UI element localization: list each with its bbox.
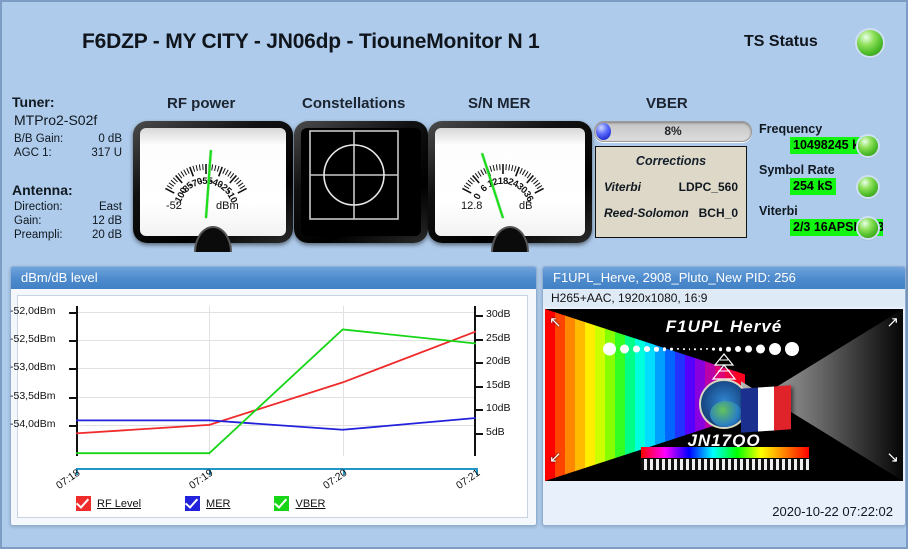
burst-dot [663,347,667,351]
ts-status-led [857,30,883,56]
level-chart-panel: dBm/dB level -52,0dBm-52,5dBm-53,0dBm-53… [10,266,537,526]
chart-x-tick-label: 07:19 [187,467,215,492]
corrections-row-viterbi: Viterbi LDPC_560 [596,180,746,194]
snr-mer-scale: 061218243036 [435,128,571,222]
burst-dot [712,348,715,351]
rf-power-title: RF power [167,95,235,112]
antenna-row-direction: Direction: East [14,200,130,214]
chart-right-tick [476,386,483,388]
legend-checkbox[interactable] [274,496,289,511]
legend-label: MER [206,498,230,510]
burst-dot [620,345,629,354]
chart-series-vber [76,329,476,453]
burst-dot [654,347,659,352]
chart-left-tick-label: -53,0dBm [10,361,56,373]
video-timestamp: 2020-10-22 07:22:02 [543,504,893,519]
burst-dot [706,348,708,350]
antenna-row-gain: Gain: 12 dB [14,214,130,228]
chart-right-tick [476,339,483,341]
level-chart-title: dBm/dB level [11,267,536,289]
antenna-direction-value: East [73,200,130,214]
legend-label: RF Level [97,498,141,510]
legend-label: VBER [295,498,325,510]
arrow-up-left-icon: ↖ [549,315,562,330]
burst-dot [689,348,691,350]
antenna-preampli-key: Preampli: [14,228,73,242]
viterbi-lock-led [858,218,878,238]
vber-percent-label: 8% [595,122,751,141]
snr-mer-gauge: 061218243036 12.8 dB [428,121,592,243]
chart-series-mer [76,418,476,430]
chart-right-tick-label: 10dB [486,402,511,414]
tuner-bbgain-value: 0 dB [73,132,130,146]
chart-right-tick [476,362,483,364]
viterbi-label: Viterbi [759,204,907,218]
chart-baseline [76,468,476,470]
vber-progress-bar[interactable]: 8% [594,121,752,142]
corrections-reedsolomon-label: Reed-Solomon [604,206,689,220]
tuner-row-agc: AGC 1: 317 U [14,146,130,160]
burst-dot [670,348,673,351]
chart-series-layer [76,306,476,456]
antenna-direction-key: Direction: [14,200,73,214]
chart-left-tick [69,425,76,427]
symbol-rate-label: Symbol Rate [759,163,907,177]
snr-mer-reading: 12.8 [461,200,482,212]
arrow-down-right-icon: ↘ [886,450,899,465]
ts-status-label: TS Status [744,33,818,51]
legend-item-vber[interactable]: VBER [274,496,325,511]
grayscale-bar-pattern [641,459,809,470]
vber-slider-thumb[interactable] [596,123,611,140]
check-icon [274,495,287,509]
check-icon [185,495,198,509]
snr-mer-unit: dB [519,200,532,212]
constellation-canvas [301,128,421,236]
chart-right-tick [476,315,483,317]
color-bar-pattern [641,447,809,458]
video-preview-panel: F1UPL_Herve, 2908_Pluto_New PID: 256 H26… [542,266,906,526]
tuner-info-block: Tuner: MTPro2-S02f B/B Gain: 0 dB AGC 1:… [12,94,130,242]
antenna-heading: Antenna: [12,182,130,198]
rf-power-gauge: -100-85-70-55-40-25-10 -52 dBm [133,121,293,243]
burst-dot [677,348,679,350]
antenna-preampli-value: 20 dB [73,228,130,242]
french-flag-icon [741,385,791,432]
legend-checkbox[interactable] [185,496,200,511]
corrections-box: Corrections Viterbi LDPC_560 Reed-Solomo… [595,146,747,238]
snr-mer-title: S/N MER [468,95,531,112]
chart-left-tick [69,340,76,342]
burst-dot [726,347,731,352]
corrections-row-reedsolomon: Reed-Solomon BCH_0 [596,206,746,220]
video-header: F1UPL_Herve, 2908_Pluto_New PID: 256 [543,267,905,289]
snr-mer-gauge-face: 061218243036 12.8 dB [435,128,585,236]
chart-right-tick [476,433,483,435]
video-subheader: H265+AAC, 1920x1080, 16:9 [543,289,905,307]
chart-right-tick-label: 25dB [486,332,511,344]
symbol-rate-lock-led [858,177,878,197]
legend-item-rf-level[interactable]: RF Level [76,496,141,511]
symbol-rate-row: 254 kS [757,178,907,197]
burst-dot [644,346,650,352]
viterbi-row: 2/3 16APSK_L3 [757,219,907,238]
chart-left-tick [69,368,76,370]
chart-left-tick [69,397,76,399]
tuner-model: MTPro2-S02f [14,112,130,128]
burst-dot [785,342,799,356]
burst-dot [694,348,696,350]
symbol-rate-value: 254 kS [790,178,836,195]
tiounemonitor-window: F6DZP - MY CITY - JN06dp - TiouneMonitor… [0,0,908,549]
constellation-display [294,121,428,243]
tuner-row-bbgain: B/B Gain: 0 dB [14,132,130,146]
chart-right-tick-label: 15dB [486,379,511,391]
rf-power-gauge-face: -100-85-70-55-40-25-10 -52 dBm [140,128,286,236]
chart-left-tick-label: -53,5dBm [10,390,56,402]
frequency-label: Frequency [759,122,907,136]
chart-x-tick-label: 07:21 [454,467,482,492]
check-icon [76,495,89,509]
corrections-reedsolomon-value: BCH_0 [699,206,738,220]
constellation-grid-icon [301,128,407,222]
chart-left-tick-label: -52,0dBm [10,305,56,317]
chart-right-tick-label: 5dB [486,426,505,438]
signal-parameters-panel: Frequency 10498245 kHz Symbol Rate 254 k… [757,122,907,245]
burst-dot [719,347,723,351]
burst-dot [603,343,616,356]
chart-left-tick-label: -52,5dBm [10,333,56,345]
corrections-viterbi-label: Viterbi [604,180,641,194]
level-chart-legend: RF LevelMERVBER [76,496,476,511]
chart-right-tick-label: 30dB [486,308,511,320]
tuner-agc-key: AGC 1: [14,146,73,160]
chart-x-tick-label: 07:20 [321,467,349,492]
tuner-heading: Tuner: [12,94,130,110]
burst-dot [735,346,741,352]
page-title: F6DZP - MY CITY - JN06dp - TiouneMonitor… [82,30,540,54]
arrow-up-right-icon: ↗ [886,315,899,330]
level-chart-canvas: -52,0dBm-52,5dBm-53,0dBm-53,5dBm-54,0dBm… [76,306,476,456]
vber-title: VBER [646,95,688,112]
chart-left-tick-label: -54,0dBm [10,418,56,430]
burst-dot [756,345,765,354]
antenna-gain-key: Gain: [14,214,73,228]
tuner-agc-value: 317 U [73,146,130,160]
app-header: F6DZP - MY CITY - JN06dp - TiouneMonitor… [2,2,906,80]
legend-checkbox[interactable] [76,496,91,511]
rf-power-unit: dBm [216,200,239,212]
constellations-title: Constellations [302,95,405,112]
burst-dot [700,348,702,350]
burst-dot [633,346,640,353]
chart-left-tick [69,312,76,314]
rf-power-reading: -52 [166,200,182,212]
antenna-row-preampli: Preampli: 20 dB [14,228,130,242]
antenna-gain-value: 12 dB [73,214,130,228]
chart-series-rf-level [76,331,476,433]
frequency-row: 10498245 kHz [757,137,907,156]
corrections-viterbi-value: LDPC_560 [679,180,738,194]
frequency-lock-led [858,136,878,156]
chart-x-tick-label: 07:18 [54,467,82,492]
burst-dot [683,348,685,350]
burst-dot [745,346,752,353]
corrections-title: Corrections [596,154,746,168]
chart-right-tick-label: 20dB [486,355,511,367]
tuner-bbgain-key: B/B Gain: [14,132,73,146]
chart-right-tick [476,409,483,411]
arrow-down-left-icon: ↙ [549,450,562,465]
level-chart-plot-area: -52,0dBm-52,5dBm-53,0dBm-53,5dBm-54,0dBm… [17,295,528,518]
video-frame: F1UPL Hervé JN17QO ↖ ↗ ↙ ↘ rve - (Bourgo… [545,309,903,481]
video-callsign-text: F1UPL Hervé [545,317,903,337]
burst-dot [769,343,781,355]
legend-item-mer[interactable]: MER [185,496,230,511]
